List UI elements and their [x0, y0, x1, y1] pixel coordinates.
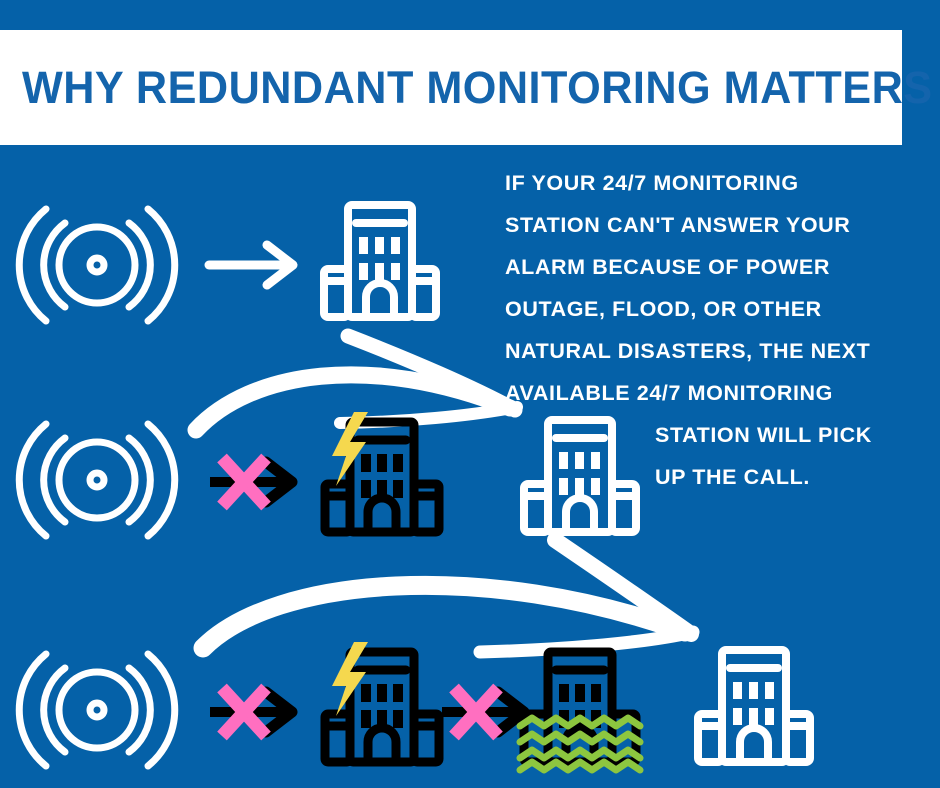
building-flooded-icon	[518, 642, 646, 770]
alarm-signal-icon	[22, 195, 172, 335]
blocked-arrow-icon	[208, 682, 304, 742]
body-line-4: OUTAGE, FLOOD, OR OTHER	[505, 288, 925, 330]
alarm-signal-icon	[22, 410, 172, 550]
monitoring-station-building-icon	[318, 197, 442, 325]
body-line-3: ALARM BECAUSE OF POWER	[505, 246, 925, 288]
alarm-signal-icon	[22, 640, 172, 780]
monitoring-station-building-icon	[692, 642, 816, 770]
body-line-2: STATION CAN'T ANSWER YOUR	[505, 204, 925, 246]
curved-brush-arrow-icon	[195, 540, 735, 670]
title-panel: WHY REDUNDANT MONITORING MATTERS	[0, 30, 902, 145]
arrow-right-icon	[205, 237, 305, 293]
infographic-poster: WHY REDUNDANT MONITORING MATTERS IF YOUR…	[0, 0, 940, 788]
building-power-outage-icon	[318, 642, 448, 770]
monitoring-station-building-icon	[518, 412, 642, 540]
body-line-5: NATURAL DISASTERS, THE NEXT	[505, 330, 925, 372]
body-line-6: AVAILABLE 24/7 MONITORING	[505, 372, 925, 414]
page-title: WHY REDUNDANT MONITORING MATTERS	[22, 65, 933, 110]
building-power-outage-icon	[318, 412, 448, 540]
blocked-arrow-icon	[208, 452, 304, 512]
body-line-1: IF YOUR 24/7 MONITORING	[505, 162, 925, 204]
